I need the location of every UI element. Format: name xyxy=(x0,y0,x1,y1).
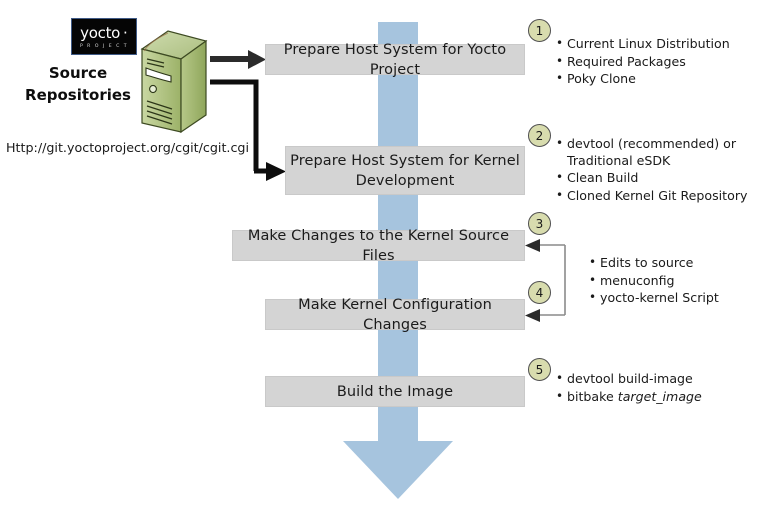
diagram-canvas: yocto · P R O J E C T xyxy=(0,0,769,517)
step-box-prepare-host-kernel-label: Prepare Host System for Kernel Developme… xyxy=(286,151,524,191)
step-badge-1: 1 xyxy=(528,19,551,42)
note-item: Edits to source xyxy=(600,255,766,272)
step-notes-5: devtool build-image bitbake target_image xyxy=(553,371,763,406)
step-badge-4: 4 xyxy=(528,281,551,304)
step-box-prepare-host-yocto[interactable]: Prepare Host System for Yocto Project xyxy=(265,44,525,75)
yocto-project-logo: yocto · P R O J E C T xyxy=(71,18,137,55)
step-notes-2: devtool (recommended) or Traditional eSD… xyxy=(553,136,768,205)
yocto-logo-subtitle: P R O J E C T xyxy=(80,44,128,49)
source-label-line2: Repositories xyxy=(18,84,138,106)
step-badge-3: 3 xyxy=(528,212,551,235)
note-item: Current Linux Distribution xyxy=(567,36,763,53)
server-tower-icon xyxy=(138,27,210,137)
step-notes-1: Current Linux Distribution Required Pack… xyxy=(553,36,763,89)
source-repositories-label: Source Repositories xyxy=(18,62,138,106)
step-box-build-image[interactable]: Build the Image xyxy=(265,376,525,407)
step-notes-3-4-shared: Edits to source menuconfig yocto-kernel … xyxy=(586,255,766,308)
note-item: bitbake target_image xyxy=(567,389,763,406)
step-box-make-config-changes[interactable]: Make Kernel Configuration Changes xyxy=(265,299,525,330)
note-item: Cloned Kernel Git Repository xyxy=(567,188,768,205)
note-item-text: bitbake xyxy=(567,389,618,404)
note-item: menuconfig xyxy=(600,273,766,290)
yocto-logo-dot: · xyxy=(123,24,128,42)
note-item: Required Packages xyxy=(567,54,763,71)
step-badge-2: 2 xyxy=(528,124,551,147)
source-label-line1: Source xyxy=(18,62,138,84)
note-item: Clean Build xyxy=(567,170,768,187)
step-badge-5: 5 xyxy=(528,358,551,381)
note-item: yocto-kernel Script xyxy=(600,290,766,307)
step-box-make-source-changes[interactable]: Make Changes to the Kernel Source Files xyxy=(232,230,525,261)
note-item: devtool build-image xyxy=(567,371,763,388)
note-item-emphasis: target_image xyxy=(618,389,702,404)
step-box-prepare-host-kernel[interactable]: Prepare Host System for Kernel Developme… xyxy=(285,146,525,195)
yocto-logo-word: yocto xyxy=(80,26,120,41)
note-item: devtool (recommended) or Traditional eSD… xyxy=(567,136,768,169)
note-item: Poky Clone xyxy=(567,71,763,88)
source-repository-url: Http://git.yoctoproject.org/cgit/cgit.cg… xyxy=(6,140,249,155)
